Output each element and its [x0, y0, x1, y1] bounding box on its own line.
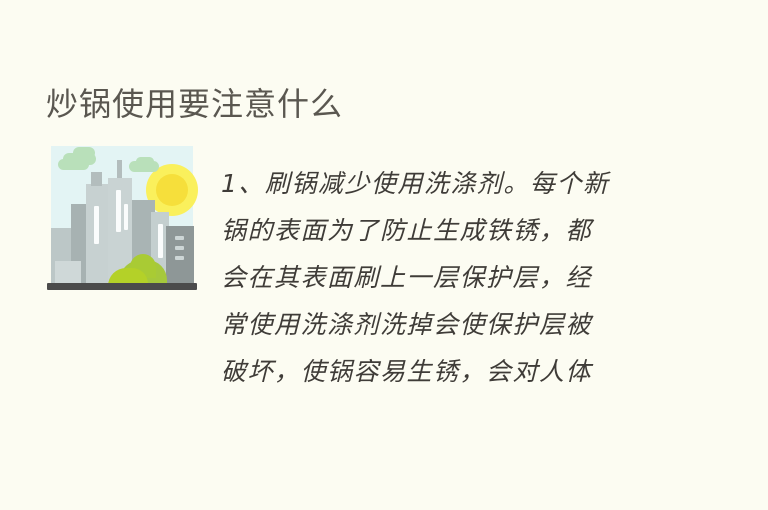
- body-line: 锅的表面为了防止生成铁锈，都: [221, 207, 653, 254]
- window-stripe: [124, 204, 128, 230]
- article-body-text: 1、刷锅减少使用洗涤剂。每个新 锅的表面为了防止生成铁锈，都 会在其表面刷上一层…: [221, 160, 653, 395]
- window-dot: [175, 246, 184, 250]
- body-line: 1、刷锅减少使用洗涤剂。每个新: [221, 160, 653, 207]
- window-dot: [175, 236, 184, 240]
- body-line: 常使用洗涤剂洗掉会使保护层被: [221, 301, 653, 348]
- ground-bar: [47, 283, 197, 290]
- window-dot: [175, 256, 184, 260]
- article-page: 炒锅使用要注意什么 1、刷锅减少使用洗涤剂。每个新 锅的表面: [0, 0, 768, 510]
- window-stripe: [94, 206, 99, 244]
- body-line: 会在其表面刷上一层保护层，经: [221, 254, 653, 301]
- building-shape: [166, 226, 194, 284]
- building-shape: [55, 261, 81, 284]
- sun-core-icon: [156, 174, 188, 206]
- window-stripe: [158, 224, 163, 258]
- body-line: 破坏，使锅容易生锈，会对人体: [221, 348, 653, 395]
- page-title: 炒锅使用要注意什么: [46, 84, 343, 124]
- cloud-icon: [73, 147, 95, 159]
- cityscape-illustration: [46, 142, 198, 292]
- building-roof-box: [91, 172, 102, 186]
- cloud-icon: [136, 157, 154, 166]
- cloud-icon: [58, 159, 89, 170]
- window-stripe: [116, 190, 121, 232]
